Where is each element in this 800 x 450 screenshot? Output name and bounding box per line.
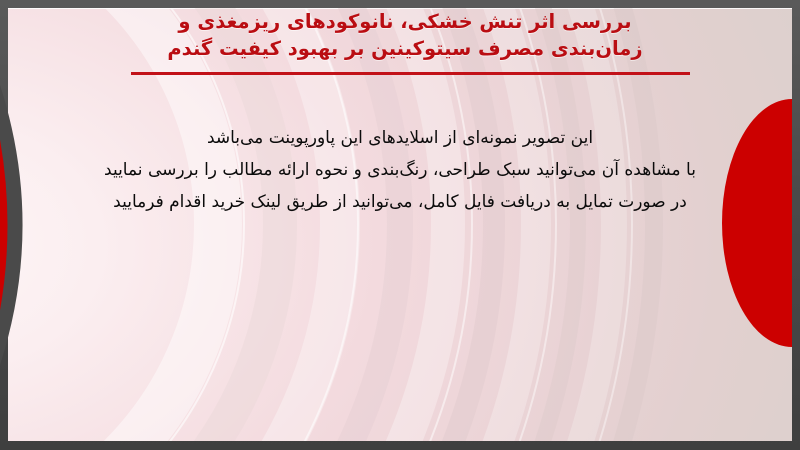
body-line-1: این تصویر نمونه‌ای از اسلایدهای این پاور… [60, 122, 740, 154]
presentation-slide: بررسی اثر تنش خشکی، نانوکودهای ریزمغذی و… [0, 0, 800, 450]
slide-title: بررسی اثر تنش خشکی، نانوکودهای ریزمغذی و… [96, 8, 714, 62]
slide-body: این تصویر نمونه‌ای از اسلایدهای این پاور… [60, 122, 740, 218]
body-line-3: در صورت تمایل به دریافت فایل کامل، می‌تو… [60, 186, 740, 218]
title-underline-rule [131, 72, 690, 75]
slide-content: بررسی اثر تنش خشکی، نانوکودهای ریزمغذی و… [0, 0, 800, 450]
body-line-2: با مشاهده آن می‌توانید سبک طراحی، رنگ‌بن… [60, 154, 740, 186]
